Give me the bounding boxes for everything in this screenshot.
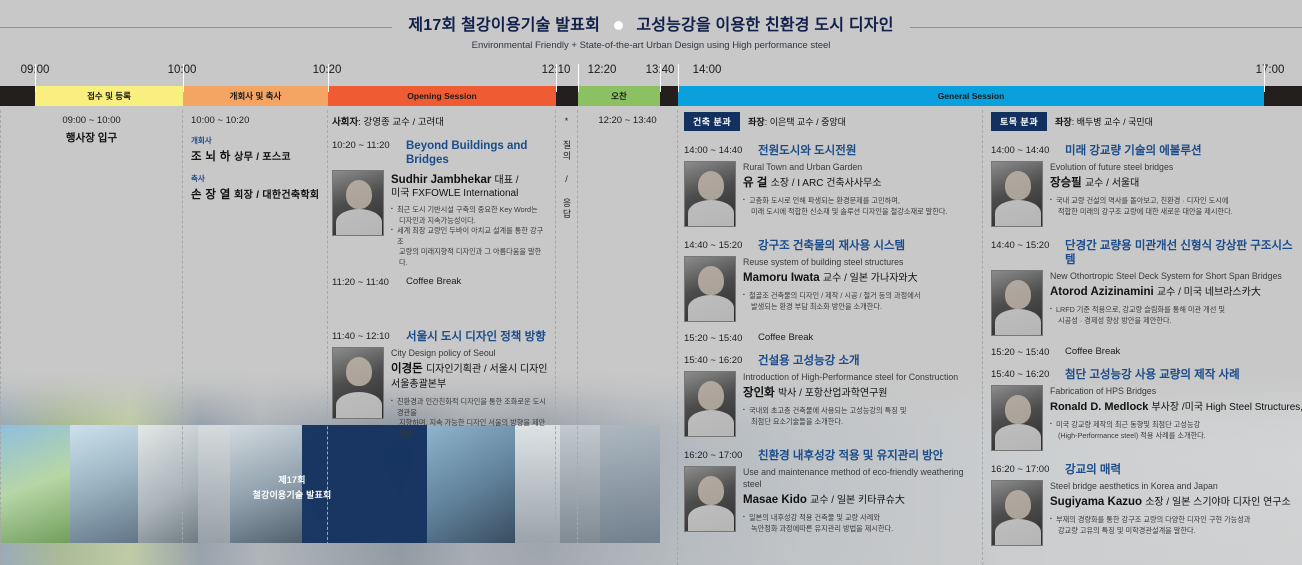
bullet-line-2: 시공성 · 경제성 향상 방안을 제안한다. — [1056, 316, 1302, 327]
architecture-block: 건축 분과 좌장: 이은택 교수 / 중앙대 14:00 ~ 14:40 전원도… — [678, 110, 982, 534]
session-bullet: 국내 교량 건설의 역사를 돌아보고, 친환경 · 디자인 도시에 적합한 미래… — [1050, 196, 1302, 217]
session-title: 건설용 고성능강 소개 — [758, 354, 860, 368]
lunch-time: 12:20 ~ 13:40 — [578, 110, 677, 126]
ceremony-name-1: 손 장 열 — [191, 189, 231, 201]
session-speaker: Sudhir Jambhekar 대표 / — [391, 173, 549, 188]
tick-1400: 14:00 — [693, 64, 722, 76]
timeline-divider-1210 — [556, 64, 557, 92]
session-text: Fabrication of HPS Bridges Ronald D. Med… — [1050, 385, 1302, 451]
session-item-body: Rural Town and Urban Garden 유 걸 소장 / I A… — [684, 161, 982, 227]
session-item[interactable]: 15:40 ~ 16:20 건설용 고성능강 소개 Introduction o… — [684, 354, 982, 437]
tick-1020: 10:20 — [313, 64, 342, 76]
bullet-line-1: 철골조 건축물의 디자인 / 제작 / 시공 / 철거 등의 과정에서 — [749, 291, 920, 300]
civil-badge: 토목 분과 — [991, 112, 1047, 131]
session-item[interactable]: 14:00 ~ 14:40 미래 강교량 기술의 에볼루션 Evolution … — [991, 144, 1302, 227]
session-time: 14:00 ~ 14:40 — [991, 144, 1057, 156]
bullet-line-2: 지향하며, 지속 가능한 디자인 서울의 방향을 제안한다. — [397, 418, 549, 439]
session-subtitle: Evolution of future steel bridges — [1050, 161, 1302, 173]
speaker-portrait-icon — [991, 385, 1043, 451]
session-bullet: 친환경과 인간친화적 디자인을 통한 조화로운 도시경관을 지향하며, 지속 가… — [391, 397, 549, 439]
coffee-break: 11:20 ~ 11:40 Coffee Break — [332, 276, 549, 288]
page-header: 제17회 철강이용기술 발표회 고성능강을 이용한 친환경 도시 디자인 Env… — [0, 0, 1302, 62]
session-title: 전원도시와 도시전원 — [758, 144, 856, 158]
session-item-body: Evolution of future steel bridges 장승필 교수… — [991, 161, 1302, 227]
session-item-body: Use and maintenance method of eco-friend… — [684, 466, 982, 534]
moderator-label: 사회자 — [332, 117, 358, 128]
session-bullet: 국내외 초고층 건축물에 사용되는 고성능강의 특징 및 최첨단 요소기술들을 … — [743, 406, 982, 427]
architecture-chair: 좌장: 이은택 교수 / 중앙대 — [748, 115, 846, 128]
speaker-affiliation: 부사장 /미국 High Steel Structures, Inc. — [1151, 402, 1302, 413]
session-title: 서울시 도시 디자인 정책 방향 — [406, 330, 546, 344]
session-item[interactable]: 11:40 ~ 12:10 서울시 도시 디자인 정책 방향 City Desi… — [332, 330, 549, 439]
session-bullets: 국내외 초고층 건축물에 사용되는 고성능강의 특징 및 최첨단 요소기술들을 … — [743, 406, 982, 427]
bullet-dot-icon — [614, 21, 623, 30]
session-speaker: 이경돈 디자인기획관 / 서울시 디자인서울총괄본부 — [391, 362, 549, 392]
tick-1700: 17:00 — [1256, 64, 1285, 76]
session-bullet: 미국 강교량 제작의 최근 동향및 최첨단 고성능강 (High-Perform… — [1050, 420, 1302, 441]
session-bullet: LRFD 기준 적용으로, 강교량 슬림화를 통해 미관 개선 및 시공성 · … — [1050, 305, 1302, 326]
session-title: 첨단 고성능강 사용 교량의 제작 사례 — [1065, 368, 1240, 382]
timeline-divider-1340 — [660, 64, 661, 92]
speaker-portrait-icon — [332, 347, 384, 419]
session-title: Beyond Buildings and Bridges — [406, 139, 549, 167]
title-right: 고성능강을 이용한 친환경 도시 디자인 — [636, 17, 893, 34]
bullet-line-4: 교량의 미래지향적 디자인과 그 아름다움을 말한다. — [397, 247, 549, 268]
segment-opening-session[interactable]: Opening Session — [328, 86, 556, 106]
ceremony-tag-congrats: 축사 — [191, 173, 327, 184]
coffee-label: Coffee Break — [758, 332, 813, 344]
speaker-portrait-icon — [684, 256, 736, 322]
bullet-line-1: 최근 도시 기반시설 구축의 중요한 Key Word는 — [397, 205, 538, 214]
session-bullets: 일본의 내후성강 적용 건축물 및 교량 사례와 녹안정화 과정에따른 유지관리… — [743, 513, 982, 534]
session-item-head: 10:20 ~ 11:20 Beyond Buildings and Bridg… — [332, 139, 549, 167]
session-speaker: 장승필 교수 / 서울대 — [1050, 176, 1302, 191]
session-bullet: 부재의 경량화를 통한 강구조 교량의 다양한 디자인 구현 가능성과 강교량 … — [1050, 515, 1302, 536]
coffee-break: 15:20 ~ 15:40 Coffee Break — [684, 332, 982, 344]
segment-registration[interactable]: 접수 및 등록 — [35, 86, 183, 106]
session-item[interactable]: 14:40 ~ 15:20 단경간 교량용 미관개선 신형식 강상판 구조시스템… — [991, 239, 1302, 336]
title-left: 제17회 철강이용기술 발표회 — [408, 17, 600, 34]
session-item[interactable]: 16:20 ~ 17:00 친환경 내후성강 적용 및 유지관리 방안 Use … — [684, 449, 982, 534]
bullet-line-1: 일본의 내후성강 적용 건축물 및 교량 사례와 — [749, 513, 880, 522]
column-architecture-track: 건축 분과 좌장: 이은택 교수 / 중앙대 14:00 ~ 14:40 전원도… — [678, 110, 983, 565]
speaker-portrait-icon — [991, 270, 1043, 336]
speaker-name: 유 걸 — [743, 177, 767, 189]
session-text: Introduction of High-Performance steel f… — [743, 371, 982, 437]
session-subtitle: City Design policy of Seoul — [391, 347, 549, 359]
session-time: 16:20 ~ 17:00 — [991, 463, 1057, 475]
speaker-affiliation: 교수 / 서울대 — [1085, 178, 1139, 189]
bullet-line-1: 국내외 초고층 건축물에 사용되는 고성능강의 특징 및 — [749, 406, 906, 415]
session-time: 15:40 ~ 16:20 — [684, 354, 750, 366]
session-text: Reuse system of building steel structure… — [743, 256, 982, 322]
session-title: 강구조 건축물의 재사용 시스템 — [758, 239, 905, 253]
column-opening-session: 사회자: 강영종 교수 / 고려대 10:20 ~ 11:20 Beyond B… — [328, 110, 556, 565]
coffee-break: 15:20 ~ 15:40 Coffee Break — [991, 346, 1302, 358]
ceremony-name-0: 조 뇌 하 — [191, 151, 231, 163]
chair-label: 좌장 — [1055, 117, 1072, 127]
session-item-head: 16:20 ~ 17:00 친환경 내후성강 적용 및 유지관리 방안 — [684, 449, 982, 463]
session-item-body: Fabrication of HPS Bridges Ronald D. Med… — [991, 385, 1302, 451]
timeline-divider-0900 — [35, 64, 36, 92]
timeline-divider-1700 — [1264, 64, 1265, 92]
bullet-line-1: 고층화 도시로 인해 파생되는 환경문제를 고민하며, — [749, 196, 900, 205]
session-bullet: 일본의 내후성강 적용 건축물 및 교량 사례와 녹안정화 과정에따른 유지관리… — [743, 513, 982, 534]
speaker-name: Sugiyama Kazuo — [1050, 496, 1142, 508]
coffee-label: Coffee Break — [406, 276, 461, 288]
bullet-line-2: (High-Performance steel) 적용 사례를 소개한다. — [1056, 431, 1302, 442]
speaker-name: Mamoru Iwata — [743, 272, 820, 284]
opening-moderator: 사회자: 강영종 교수 / 고려대 — [332, 114, 549, 128]
timeline: 09:00 10:00 10:20 12:10 12:20 13:40 14:0… — [0, 64, 1302, 110]
speaker-name: Masae Kido — [743, 494, 807, 506]
timeline-divider-1220 — [578, 64, 579, 92]
speaker-affiliation: 교수 / 일본 가나자와大 — [823, 273, 918, 284]
session-time: 14:00 ~ 14:40 — [684, 144, 750, 156]
column-qa: * 질의 / 응답 — [556, 110, 578, 565]
bullet-line-1: 미국 강교량 제작의 최근 동향및 최첨단 고성능강 — [1056, 420, 1200, 429]
session-title: 미래 강교량 기술의 에볼루션 — [1065, 144, 1202, 158]
page-title: 제17회 철강이용기술 발표회 고성능강을 이용한 친환경 도시 디자인 — [408, 11, 893, 35]
session-subtitle: Introduction of High-Performance steel f… — [743, 371, 982, 383]
segment-general-session[interactable]: General Session — [678, 86, 1264, 106]
coffee-time: 11:20 ~ 11:40 — [332, 276, 398, 288]
session-item-body: Introduction of High-Performance steel f… — [684, 371, 982, 437]
ceremony-time: 10:00 ~ 10:20 — [191, 115, 327, 126]
session-bullet: 최근 도시 기반시설 구축의 중요한 Key Word는 디자인과 지속가능성이… — [391, 205, 549, 226]
header-rule-right — [910, 27, 1302, 28]
session-item-head: 16:20 ~ 17:00 강교의 매력 — [991, 463, 1302, 477]
speaker-name: 장인화 — [743, 387, 775, 399]
speaker-portrait-icon — [684, 466, 736, 532]
session-item-head: 11:40 ~ 12:10 서울시 도시 디자인 정책 방향 — [332, 330, 549, 344]
session-title: 단경간 교량용 미관개선 신형식 강상판 구조시스템 — [1065, 239, 1302, 267]
speaker-affiliation: 교수 / 일본 키타큐슈大 — [810, 495, 905, 506]
coffee-time: 15:20 ~ 15:40 — [991, 346, 1057, 358]
session-bullets: LRFD 기준 적용으로, 강교량 슬림화를 통해 미관 개선 및 시공성 · … — [1050, 305, 1302, 326]
civil-track-head: 토목 분과 좌장: 배두병 교수 / 국민대 — [991, 110, 1302, 144]
session-item[interactable]: 14:00 ~ 14:40 전원도시와 도시전원 Rural Town and … — [684, 144, 982, 227]
session-item-head: 15:40 ~ 16:20 건설용 고성능강 소개 — [684, 354, 982, 368]
session-item-body: Sudhir Jambhekar 대표 / 미국 FXFOWLE Interna… — [332, 170, 549, 268]
speaker-name: Ronald D. Medlock — [1050, 401, 1148, 413]
session-bullets: 국내 교량 건설의 역사를 돌아보고, 친환경 · 디자인 도시에 적합한 미래… — [1050, 196, 1302, 217]
speaker-affiliation: 소장 / I ARC 건축사사무소 — [771, 178, 882, 189]
session-item[interactable]: 15:40 ~ 16:20 첨단 고성능강 사용 교량의 제작 사례 Fabri… — [991, 368, 1302, 451]
registration-place: 행사장 입구 — [1, 130, 182, 145]
ceremony-speaker-opening: 조 뇌 하 상무 / 포스코 — [191, 148, 327, 164]
session-item-body: New Othortropic Steel Deck System for Sh… — [991, 270, 1302, 336]
program-columns: 09:00 ~ 10:00 행사장 입구 10:00 ~ 10:20 개회사 조… — [0, 110, 1302, 565]
timeline-divider-1020 — [328, 64, 329, 92]
bullet-line-1: 친환경과 인간친화적 디자인을 통한 조화로운 도시경관을 — [397, 397, 546, 417]
bullet-line-1: 국내 교량 건설의 역사를 돌아보고, 친환경 · 디자인 도시에 — [1056, 196, 1228, 205]
session-text: City Design policy of Seoul 이경돈 디자인기획관 /… — [391, 347, 549, 439]
session-speaker: 장인화 박사 / 포항산업과학연구원 — [743, 386, 982, 401]
qa-vertical-label: * 질의 / 응답 — [560, 116, 574, 220]
chair-value: : 이은택 교수 / 중앙대 — [765, 117, 846, 127]
timeline-ticks: 09:00 10:00 10:20 12:10 12:20 13:40 14:0… — [0, 64, 1302, 85]
bullet-line-2: 발생되는 환경 부담 최소화 방안을 소개한다. — [749, 302, 982, 313]
bullet-line-1: 부재의 경량화를 통한 강구조 교량의 다양한 디자인 구현 가능성과 — [1056, 515, 1251, 524]
column-opening-ceremony: 10:00 ~ 10:20 개회사 조 뇌 하 상무 / 포스코 축사 손 장 … — [183, 110, 328, 565]
session-text: New Othortropic Steel Deck System for Sh… — [1050, 270, 1302, 336]
session-item-head: 14:40 ~ 15:20 강구조 건축물의 재사용 시스템 — [684, 239, 982, 253]
speaker-name: 이경돈 — [391, 363, 423, 375]
session-item-head: 14:40 ~ 15:20 단경간 교량용 미관개선 신형식 강상판 구조시스템 — [991, 239, 1302, 267]
column-registration: 09:00 ~ 10:00 행사장 입구 — [0, 110, 183, 565]
session-time: 16:20 ~ 17:00 — [684, 449, 750, 461]
moderator-value: : 강영종 교수 / 고려대 — [358, 117, 444, 128]
session-item-body: Steel bridge aesthetics in Korea and Jap… — [991, 480, 1302, 546]
session-bullet: 철골조 건축물의 디자인 / 제작 / 시공 / 철거 등의 과정에서 발생되는… — [743, 291, 982, 312]
session-bullet: 고층화 도시로 인해 파생되는 환경문제를 고민하며, 미래 도시에 적합한 신… — [743, 196, 982, 217]
session-text: Use and maintenance method of eco-friend… — [743, 466, 982, 534]
speaker-portrait-icon — [991, 161, 1043, 227]
session-item[interactable]: 16:20 ~ 17:00 강교의 매력 Steel bridge aesthe… — [991, 463, 1302, 546]
bullet-line-2: 적합한 미래의 강구조 교량에 대한 새로운 대안을 제시한다. — [1056, 207, 1302, 218]
speaker-portrait-icon — [991, 480, 1043, 546]
tick-1220: 12:20 — [588, 64, 617, 76]
session-time: 14:40 ~ 15:20 — [991, 239, 1057, 251]
session-subtitle: Use and maintenance method of eco-friend… — [743, 466, 982, 490]
ceremony-speaker-congrats: 손 장 열 회장 / 대한건축학회 — [191, 186, 327, 202]
session-subtitle: Steel bridge aesthetics in Korea and Jap… — [1050, 480, 1302, 492]
architecture-track-head: 건축 분과 좌장: 이은택 교수 / 중앙대 — [684, 110, 982, 144]
session-bullets: 최근 도시 기반시설 구축의 중요한 Key Word는 디자인과 지속가능성이… — [391, 205, 549, 268]
session-bullets: 미국 강교량 제작의 최근 동향및 최첨단 고성능강 (High-Perform… — [1050, 420, 1302, 441]
civil-chair: 좌장: 배두병 교수 / 국민대 — [1055, 115, 1153, 128]
session-subtitle: Reuse system of building steel structure… — [743, 256, 982, 268]
segment-opening-ceremony[interactable]: 개회사 및 축사 — [183, 86, 328, 106]
bullet-line-2: 디자인과 지속가능성이다. — [397, 216, 549, 227]
speaker-portrait-icon — [684, 371, 736, 437]
speaker-name: Sudhir Jambhekar — [391, 174, 491, 186]
session-time: 11:40 ~ 12:10 — [332, 330, 398, 342]
speaker-affiliation: 교수 / 미국 네브라스카大 — [1157, 287, 1261, 298]
bullet-line-1: LRFD 기준 적용으로, 강교량 슬림화를 통해 미관 개선 및 — [1056, 305, 1225, 314]
bullet-line-2: 강교량 고유의 특징 및 미학경관설계을 말한다. — [1056, 526, 1302, 537]
column-lunch: 12:20 ~ 13:40 — [578, 110, 678, 565]
session-speaker: 유 걸 소장 / I ARC 건축사사무소 — [743, 176, 982, 191]
session-time: 15:40 ~ 16:20 — [991, 368, 1057, 380]
speaker-name: Atorod Azizinamini — [1050, 286, 1154, 298]
session-subtitle: Fabrication of HPS Bridges — [1050, 385, 1302, 397]
session-speaker: Atorod Azizinamini 교수 / 미국 네브라스카大 — [1050, 285, 1302, 300]
session-speaker: Masae Kido 교수 / 일본 키타큐슈大 — [743, 493, 982, 508]
column-civil-track: 토목 분과 좌장: 배두병 교수 / 국민대 14:00 ~ 14:40 미래 … — [983, 110, 1302, 565]
session-item-head: 15:40 ~ 16:20 첨단 고성능강 사용 교량의 제작 사례 — [991, 368, 1302, 382]
session-text: Sudhir Jambhekar 대표 / 미국 FXFOWLE Interna… — [391, 170, 549, 268]
bullet-line-2: 미래 도시에 적합한 신소재 및 솔루션 디자인을 철강소재로 말한다. — [749, 207, 982, 218]
page-subtitle: Environmental Friendly + State-of-the-ar… — [408, 40, 893, 51]
tick-1000: 10:00 — [168, 64, 197, 76]
session-bullets: 부재의 경량화를 통한 강구조 교량의 다양한 디자인 구현 가능성과 강교량 … — [1050, 515, 1302, 536]
civil-block: 토목 분과 좌장: 배두병 교수 / 국민대 14:00 ~ 14:40 미래 … — [983, 110, 1302, 546]
header-texts: 제17회 철강이용기술 발표회 고성능강을 이용한 친환경 도시 디자인 Env… — [392, 11, 909, 51]
speaker-portrait-icon — [684, 161, 736, 227]
session-text: Evolution of future steel bridges 장승필 교수… — [1050, 161, 1302, 227]
header-rule-left — [0, 27, 392, 28]
bullet-line-2: 녹안정화 과정에따른 유지관리 방법을 제시한다. — [749, 524, 982, 535]
ceremony-block: 10:00 ~ 10:20 개회사 조 뇌 하 상무 / 포스코 축사 손 장 … — [183, 110, 327, 202]
bullet-line-3: 세계 최장 교량인 두바이 아치교 설계를 통한 강구조 — [397, 226, 543, 246]
timeline-divider-1000 — [183, 64, 184, 92]
segment-lunch[interactable]: 오찬 — [578, 86, 660, 106]
speaker-affiliation-2: 미국 FXFOWLE International — [391, 188, 549, 200]
speaker-portrait-icon — [332, 170, 384, 236]
ceremony-tag-opening: 개회사 — [191, 135, 327, 146]
bullet-line-2: 최첨단 요소기술들을 소개한다. — [749, 417, 982, 428]
speaker-name: 장승필 — [1050, 177, 1082, 189]
session-bullets: 철골조 건축물의 디자인 / 제작 / 시공 / 철거 등의 과정에서 발생되는… — [743, 291, 982, 312]
ceremony-role-0: 상무 / 포스코 — [234, 152, 291, 163]
registration-time: 09:00 ~ 10:00 — [1, 115, 182, 126]
session-item-head: 14:00 ~ 14:40 전원도시와 도시전원 — [684, 144, 982, 158]
opening-session-block: 사회자: 강영종 교수 / 고려대 10:20 ~ 11:20 Beyond B… — [328, 110, 555, 439]
chair-label: 좌장 — [748, 117, 765, 127]
session-time: 14:40 ~ 15:20 — [684, 239, 750, 251]
session-subtitle: New Othortropic Steel Deck System for Sh… — [1050, 270, 1302, 282]
session-bullets: 친환경과 인간친화적 디자인을 통한 조화로운 도시경관을 지향하며, 지속 가… — [391, 397, 549, 439]
coffee-time: 15:20 ~ 15:40 — [684, 332, 750, 344]
session-bullets: 고층화 도시로 인해 파생되는 환경문제를 고민하며, 미래 도시에 적합한 신… — [743, 196, 982, 217]
speaker-affiliation: 박사 / 포항산업과학연구원 — [778, 388, 888, 399]
architecture-badge: 건축 분과 — [684, 112, 740, 131]
session-title: 강교의 매력 — [1065, 463, 1121, 477]
speaker-affiliation: 대표 / — [495, 175, 519, 186]
session-item-body: City Design policy of Seoul 이경돈 디자인기획관 /… — [332, 347, 549, 439]
session-item[interactable]: 10:20 ~ 11:20 Beyond Buildings and Bridg… — [332, 139, 549, 268]
session-text: Rural Town and Urban Garden 유 걸 소장 / I A… — [743, 161, 982, 227]
session-text: Steel bridge aesthetics in Korea and Jap… — [1050, 480, 1302, 546]
session-item[interactable]: 14:40 ~ 15:20 강구조 건축물의 재사용 시스템 Reuse sys… — [684, 239, 982, 322]
session-item-head: 14:00 ~ 14:40 미래 강교량 기술의 에볼루션 — [991, 144, 1302, 158]
session-bullet: 세계 최장 교량인 두바이 아치교 설계를 통한 강구조 교량의 미래지향적 디… — [391, 226, 549, 268]
chair-value: : 배두병 교수 / 국민대 — [1072, 117, 1153, 127]
registration-block: 09:00 ~ 10:00 행사장 입구 — [1, 110, 182, 145]
session-subtitle: Rural Town and Urban Garden — [743, 161, 982, 173]
session-item-body: Reuse system of building steel structure… — [684, 256, 982, 322]
session-title: 친환경 내후성강 적용 및 유지관리 방안 — [758, 449, 943, 463]
session-speaker: Mamoru Iwata 교수 / 일본 가나자와大 — [743, 271, 982, 286]
timeline-divider-1400 — [678, 64, 679, 92]
ceremony-role-1: 회장 / 대한건축학회 — [234, 190, 319, 201]
speaker-affiliation: 소장 / 일본 스기야마 디자인 연구소 — [1145, 497, 1290, 508]
timeline-bar: 접수 및 등록 개회사 및 축사 Opening Session 오찬 Gene… — [0, 86, 1302, 106]
session-speaker: Sugiyama Kazuo 소장 / 일본 스기야마 디자인 연구소 — [1050, 495, 1302, 510]
session-time: 10:20 ~ 11:20 — [332, 139, 398, 151]
session-speaker: Ronald D. Medlock 부사장 /미국 High Steel Str… — [1050, 400, 1302, 415]
coffee-label: Coffee Break — [1065, 346, 1120, 358]
